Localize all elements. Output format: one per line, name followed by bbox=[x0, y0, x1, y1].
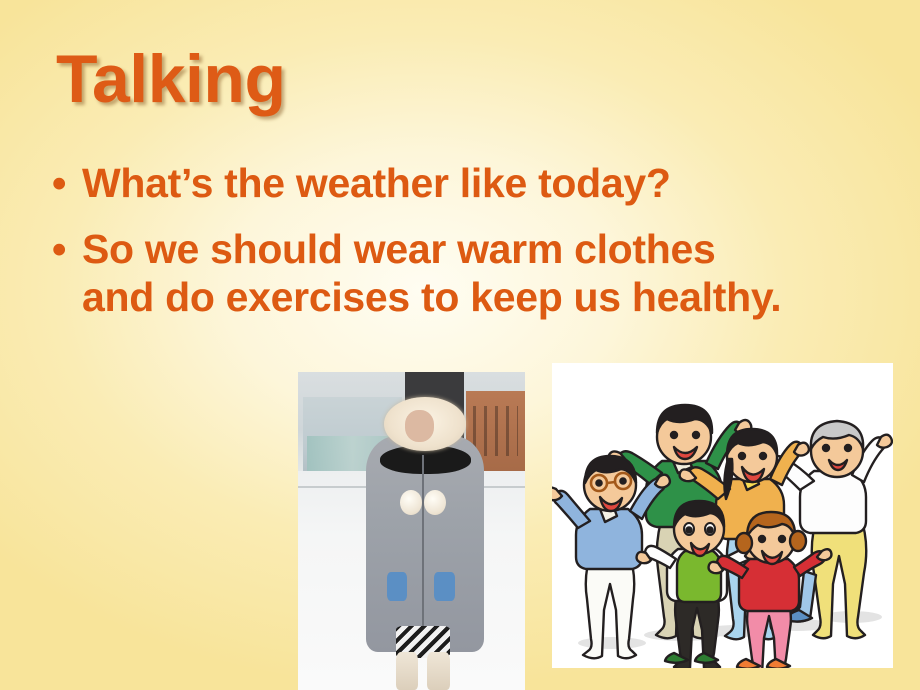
bullet-marker-icon: • bbox=[52, 160, 82, 208]
bullet-list: • What’s the weather like today? • So we… bbox=[52, 160, 882, 322]
photo-coat-patch-left bbox=[387, 572, 407, 601]
family-exercising-cartoon bbox=[552, 363, 893, 668]
photo-boot-right bbox=[427, 652, 450, 690]
page-title: Talking bbox=[56, 45, 286, 113]
photo-face bbox=[405, 410, 435, 442]
bullet-text-advice: So we should wear warm clothes and do ex… bbox=[82, 226, 782, 322]
list-item: • So we should wear warm clothes and do … bbox=[52, 226, 882, 322]
photo-coat-zipper bbox=[422, 455, 424, 627]
winter-coat-photo bbox=[298, 372, 525, 690]
list-item: • What’s the weather like today? bbox=[52, 160, 882, 208]
bullet-marker-icon: • bbox=[52, 226, 82, 274]
photo-coat-patch-right bbox=[434, 572, 454, 601]
slide-canvas: Talking • What’s the weather like today?… bbox=[0, 0, 920, 690]
bullet-text-weather: What’s the weather like today? bbox=[82, 160, 842, 208]
photo-boot-left bbox=[396, 652, 419, 690]
